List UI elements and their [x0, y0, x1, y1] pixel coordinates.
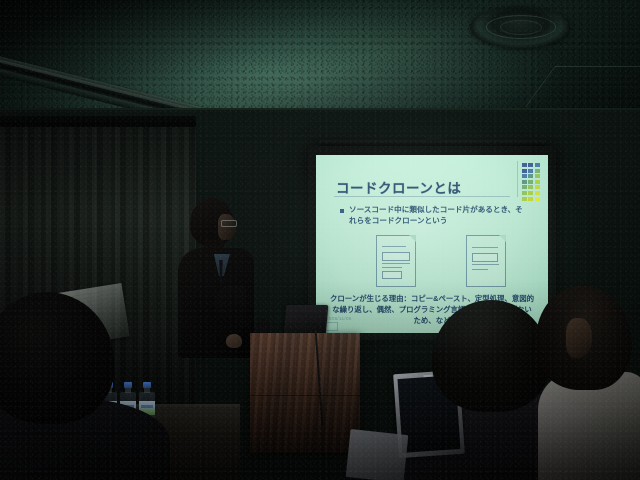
presenter-hand — [226, 334, 242, 348]
presenter-neck — [204, 240, 224, 254]
logo-dot-14 — [535, 185, 540, 189]
logo-dot-5 — [535, 169, 540, 173]
slide-title-underline — [334, 196, 510, 197]
presenter-face — [218, 214, 236, 240]
logo-dot-17 — [535, 191, 540, 195]
logo-dot-3 — [522, 169, 527, 173]
bullet-marker-icon — [340, 209, 344, 213]
slide-diagram — [370, 235, 510, 289]
logo-dot-10 — [528, 180, 533, 184]
wooden-podium — [250, 333, 360, 453]
logo-dot-15 — [522, 191, 527, 195]
logo-dot-12 — [522, 185, 527, 189]
logo-dot-19 — [528, 197, 533, 201]
logo-dot-11 — [535, 180, 540, 184]
logo-dot-0 — [522, 163, 527, 167]
slide-footer-date: 2005/11/05 — [326, 316, 352, 321]
logo-dot-13 — [528, 185, 533, 189]
lecture-room-photo: コードクローンとは ソースコード中に類似したコード片があるとき、それらをコードク… — [0, 0, 640, 480]
logo-dot-4 — [528, 169, 533, 173]
slide-title: コードクローンとは — [336, 177, 461, 197]
slide-logo-dot-grid — [522, 163, 540, 201]
glasses-icon — [221, 220, 237, 227]
slide-footer-box — [325, 322, 338, 331]
logo-dot-18 — [522, 197, 527, 201]
logo-dot-7 — [528, 174, 533, 178]
podium-shading — [250, 333, 360, 453]
logo-dot-2 — [535, 163, 540, 167]
logo-dot-1 — [528, 163, 533, 167]
logo-dot-8 — [535, 174, 540, 178]
document-icon-left — [376, 235, 416, 287]
audience-laptop-secondary — [346, 429, 409, 480]
logo-divider — [517, 161, 518, 197]
logo-dot-6 — [522, 174, 527, 178]
logo-dot-20 — [535, 197, 540, 201]
audience-right-face — [566, 318, 592, 358]
slide-bullet-row: ソースコード中に類似したコード片があるとき、それらをコードクローンという — [340, 205, 526, 227]
document-icon-right — [466, 235, 506, 287]
ceiling — [0, 0, 640, 118]
slide-bullet-text: ソースコード中に類似したコード片があるとき、それらをコードクローンという — [349, 205, 526, 227]
ceiling-vent-icon — [470, 6, 570, 48]
logo-dot-9 — [522, 180, 527, 184]
logo-dot-16 — [528, 191, 533, 195]
